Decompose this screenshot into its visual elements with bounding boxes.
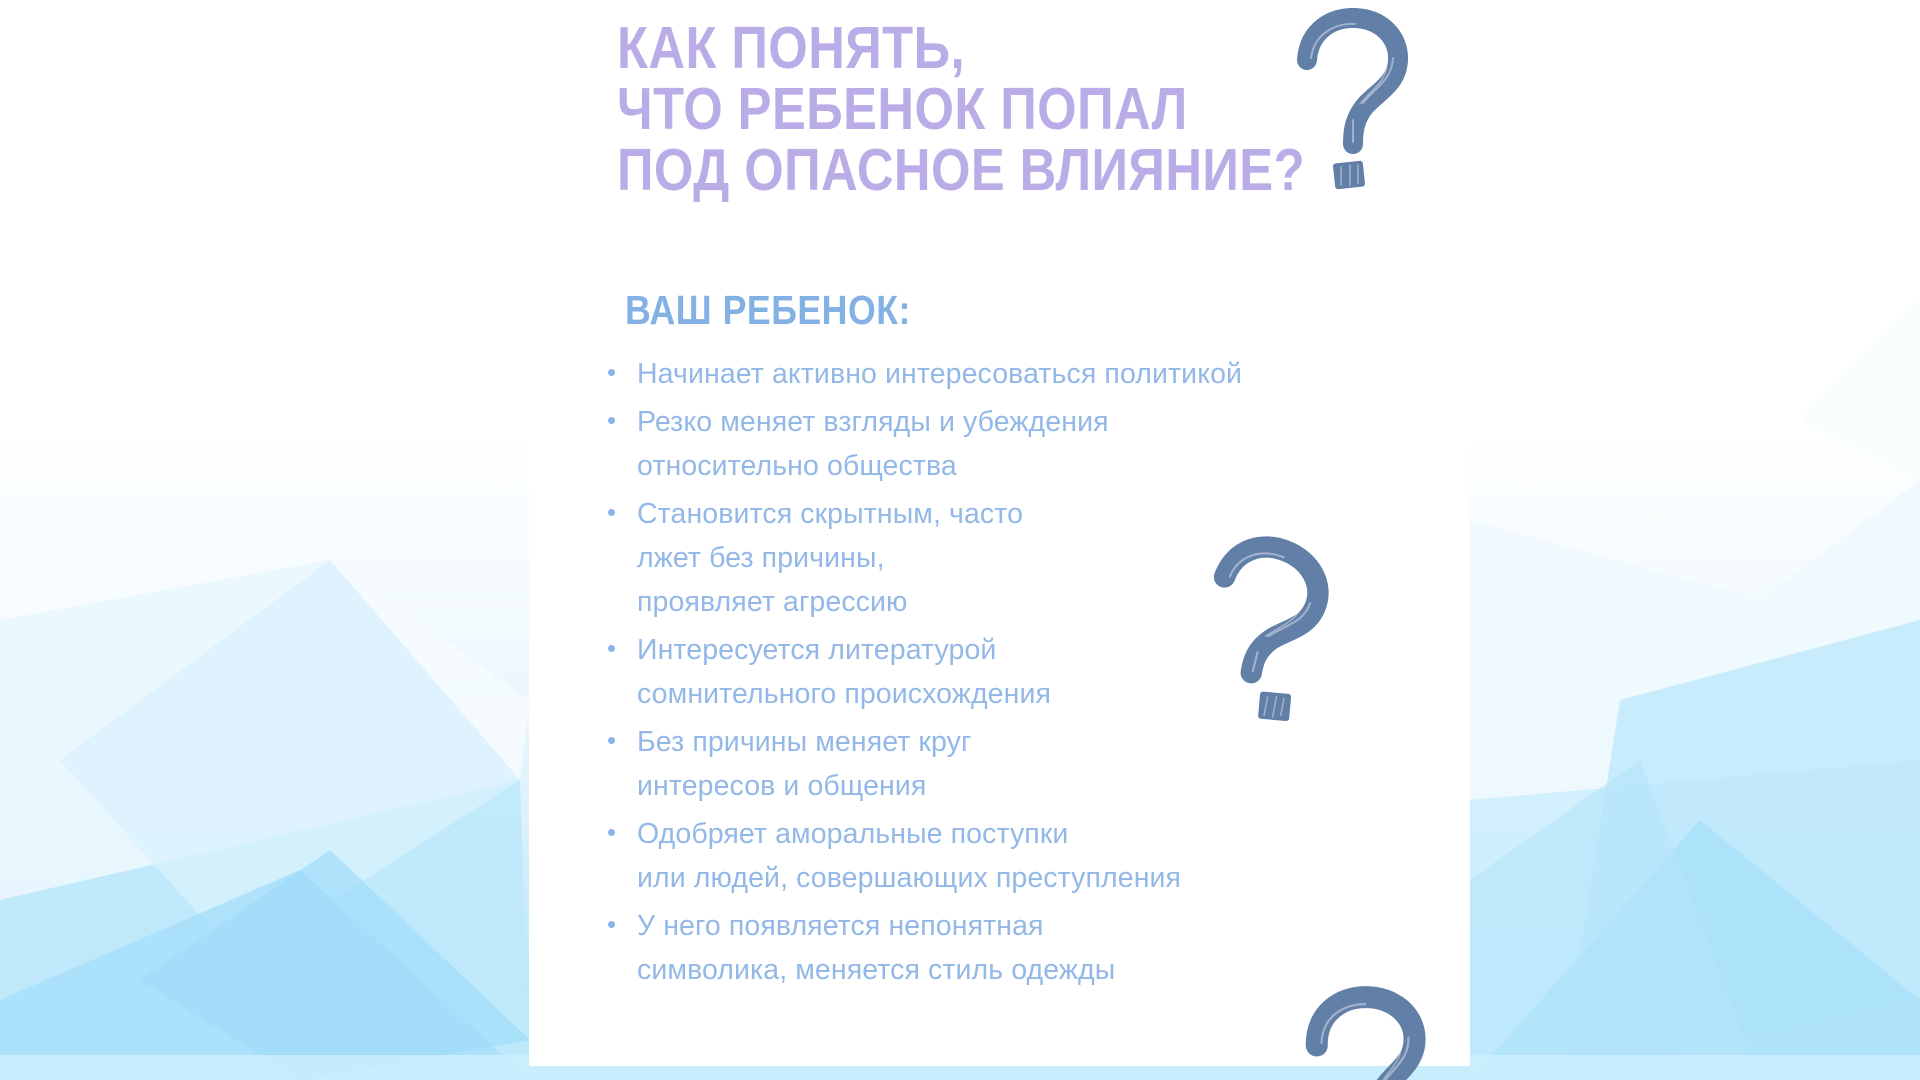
- bullet-dot-icon: [608, 737, 615, 744]
- list-item: Одобряет аморальные поступки или людей, …: [608, 812, 1368, 900]
- bullet-dot-icon: [608, 369, 615, 376]
- bullet-dot-icon: [608, 509, 615, 516]
- list-item-label: Начинает активно интересоваться политико…: [637, 352, 1242, 396]
- warning-signs-list: Начинает активно интересоваться политико…: [608, 352, 1368, 996]
- list-item: Резко меняет взгляды и убеждения относит…: [608, 400, 1368, 488]
- list-item-label: Резко меняет взгляды и убеждения относит…: [637, 400, 1109, 488]
- list-item: Начинает активно интересоваться политико…: [608, 352, 1368, 396]
- list-item: Без причины меняет круг интересов и обще…: [608, 720, 1368, 808]
- list-item: Интересуется литературой сомнительного п…: [608, 628, 1368, 716]
- title-line-1: КАК ПОНЯТЬ,: [617, 18, 1219, 79]
- page-title: КАК ПОНЯТЬ, ЧТО РЕБЕНОК ПОПАЛ ПОД ОПАСНО…: [617, 18, 1317, 201]
- list-item: Становится скрытным, часто лжет без прич…: [608, 492, 1368, 624]
- bullet-dot-icon: [608, 645, 615, 652]
- list-item: У него появляется непонятная символика, …: [608, 904, 1368, 992]
- list-item-label: У него появляется непонятная символика, …: [637, 904, 1115, 992]
- bullet-dot-icon: [608, 829, 615, 836]
- bullet-dot-icon: [608, 921, 615, 928]
- list-item-label: Интересуется литературой сомнительного п…: [637, 628, 1051, 716]
- bullet-dot-icon: [608, 417, 615, 424]
- list-item-label: Одобряет аморальные поступки или людей, …: [637, 812, 1181, 900]
- infographic-slide: КАК ПОНЯТЬ, ЧТО РЕБЕНОК ПОПАЛ ПОД ОПАСНО…: [0, 0, 1920, 1080]
- section-heading: ВАШ РЕБЕНОК:: [625, 288, 911, 332]
- list-item-label: Становится скрытным, часто лжет без прич…: [637, 492, 1023, 624]
- title-line-2: ЧТО РЕБЕНОК ПОПАЛ: [617, 79, 1219, 140]
- list-item-label: Без причины меняет круг интересов и обще…: [637, 720, 971, 808]
- title-line-3: ПОД ОПАСНОЕ ВЛИЯНИЕ?: [617, 140, 1219, 201]
